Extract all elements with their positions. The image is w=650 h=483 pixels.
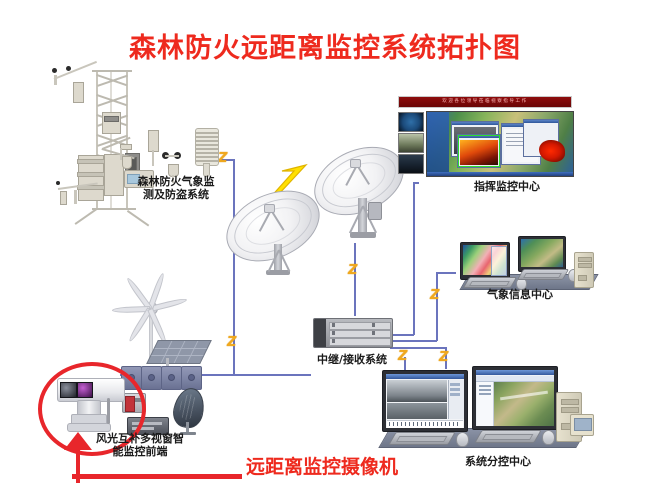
keyboard-weather-1 [463, 277, 517, 288]
sub-control-center-label: 系统分控中心 [428, 455, 568, 468]
rack-server-icon [313, 318, 393, 348]
wireless-marker-weather: Z [218, 152, 227, 165]
camera-callout-baseline [72, 474, 242, 479]
wall-heatmap [539, 140, 565, 162]
monitor-weather-map [460, 242, 510, 280]
monitor-surveillance [382, 370, 468, 432]
mouse-sub-2 [542, 430, 555, 445]
mouse-sub-1 [456, 432, 469, 447]
keyboard-sub-1 [388, 432, 456, 445]
link-relay-to-command-h [390, 334, 414, 336]
solar-panel-icon [146, 340, 212, 364]
mesh-antenna-icon [172, 388, 206, 434]
radiation-shield-icon [195, 128, 219, 166]
small-crt-monitor [570, 414, 594, 436]
weather-info-center-node [452, 236, 602, 296]
command-center-banner: 欢迎各位领导莅临视察指导工作 [398, 96, 572, 108]
link-bus-to-relay [233, 374, 311, 376]
wall-thumb-2 [398, 133, 424, 153]
wireless-marker-weather-2: Z [227, 336, 236, 349]
monitor-terrain-map [518, 236, 566, 272]
weather-station-label: 森林防火气象监 测及防盗系统 [118, 175, 234, 201]
wall-window-2 [457, 134, 501, 168]
link-relay-to-weather-info-h [390, 340, 437, 342]
wireless-marker-dish: Z [348, 264, 357, 277]
wall-thumb-3 [398, 154, 424, 174]
link-dish-to-relay-vertical [354, 243, 356, 316]
front-end-label: 风光互补多视窗智 能监控前端 [88, 432, 192, 458]
link-relay-to-weather-info-v [436, 272, 438, 341]
camera-callout-label: 远距离监控摄像机 [246, 452, 398, 479]
video-wall-icon [426, 111, 574, 177]
command-center-label: 指挥监控中心 [442, 180, 572, 193]
keyboard-weather-2 [517, 269, 569, 280]
topology-diagram: 森林防火远距离监控系统拓扑图 Z Z Z Z Z Z [0, 0, 650, 483]
keyboard-sub-2 [474, 430, 542, 443]
sub-control-center-node [374, 358, 594, 454]
command-center-node: 欢迎各位领导莅临视察指导工作 [392, 96, 574, 180]
weather-info-center-label: 气象信息中心 [455, 288, 585, 301]
tower-pc-weather [574, 252, 594, 288]
monitor-gis-map [472, 366, 558, 430]
wall-thumb-1 [398, 112, 424, 132]
wireless-marker-weather-info: Z [430, 289, 439, 302]
